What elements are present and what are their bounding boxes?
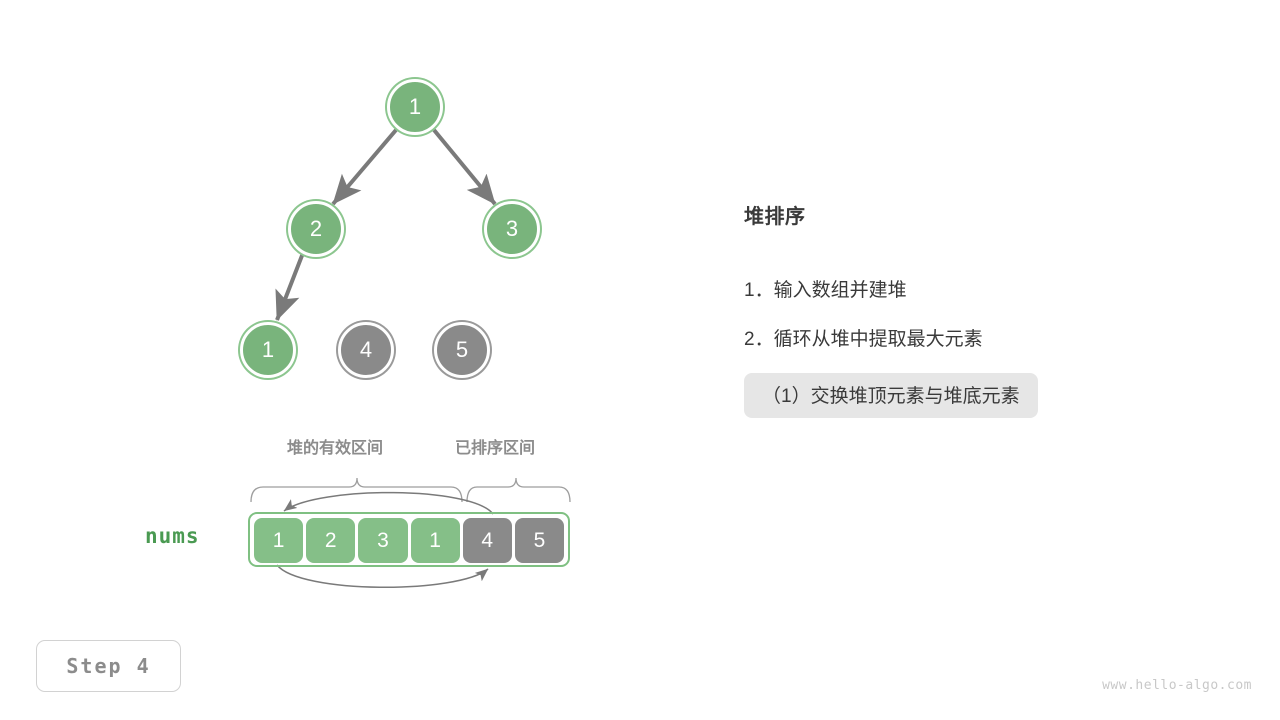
range-label-sorted: 已排序区间 xyxy=(455,434,535,458)
node-value: 5 xyxy=(456,337,468,363)
array-cell[interactable]: 1 xyxy=(411,518,460,563)
brace-sorted-range xyxy=(467,478,570,502)
array-cell-value: 4 xyxy=(481,529,493,553)
current-substep-highlight: （1）交换堆顶元素与堆底元素 xyxy=(744,373,1038,418)
array-cell-value: 5 xyxy=(534,529,546,553)
range-braces xyxy=(251,478,570,502)
tree-node-root[interactable]: 1 xyxy=(387,79,443,135)
array-cell[interactable]: 5 xyxy=(515,518,564,563)
tree-node-leaf-2[interactable]: 4 xyxy=(338,322,394,378)
array-cell[interactable]: 4 xyxy=(463,518,512,563)
array-name-label: nums xyxy=(145,524,200,548)
tree-edge-left-left xyxy=(277,253,303,320)
array-cell[interactable]: 3 xyxy=(358,518,407,563)
tree-node-left[interactable]: 2 xyxy=(288,201,344,257)
watermark-url: www.hello-algo.com xyxy=(1102,678,1252,693)
range-label-heap: 堆的有效区间 xyxy=(287,434,383,458)
node-value: 1 xyxy=(262,337,274,363)
array-cell-value: 3 xyxy=(377,529,389,553)
tree-node-leaf-1[interactable]: 1 xyxy=(240,322,296,378)
page-title: 堆排序 xyxy=(744,200,1214,229)
array-cell[interactable]: 1 xyxy=(254,518,303,563)
algorithm-step-2: 2．循环从堆中提取最大元素 xyxy=(744,324,1214,351)
array-container: 1 2 3 1 4 5 xyxy=(248,512,570,567)
tree-node-right[interactable]: 3 xyxy=(484,201,540,257)
node-value: 2 xyxy=(310,216,322,242)
brace-heap-range xyxy=(251,478,462,502)
step-badge: Step 4 xyxy=(36,640,181,692)
array-cell-value: 2 xyxy=(325,529,337,553)
tree-edge-root-left xyxy=(333,130,396,204)
array-cell[interactable]: 2 xyxy=(306,518,355,563)
node-value: 4 xyxy=(360,337,372,363)
description-panel: 堆排序 1．输入数组并建堆 2．循环从堆中提取最大元素 （1）交换堆顶元素与堆底… xyxy=(744,200,1214,418)
node-value: 3 xyxy=(506,216,518,242)
array-cell-value: 1 xyxy=(429,529,441,553)
tree-edge-root-right xyxy=(434,130,495,204)
node-value: 1 xyxy=(409,94,421,120)
swap-arrow-bottom xyxy=(277,565,488,587)
tree-node-leaf-3[interactable]: 5 xyxy=(434,322,490,378)
array-cell-value: 1 xyxy=(273,529,285,553)
algorithm-step-1: 1．输入数组并建堆 xyxy=(744,275,1214,302)
